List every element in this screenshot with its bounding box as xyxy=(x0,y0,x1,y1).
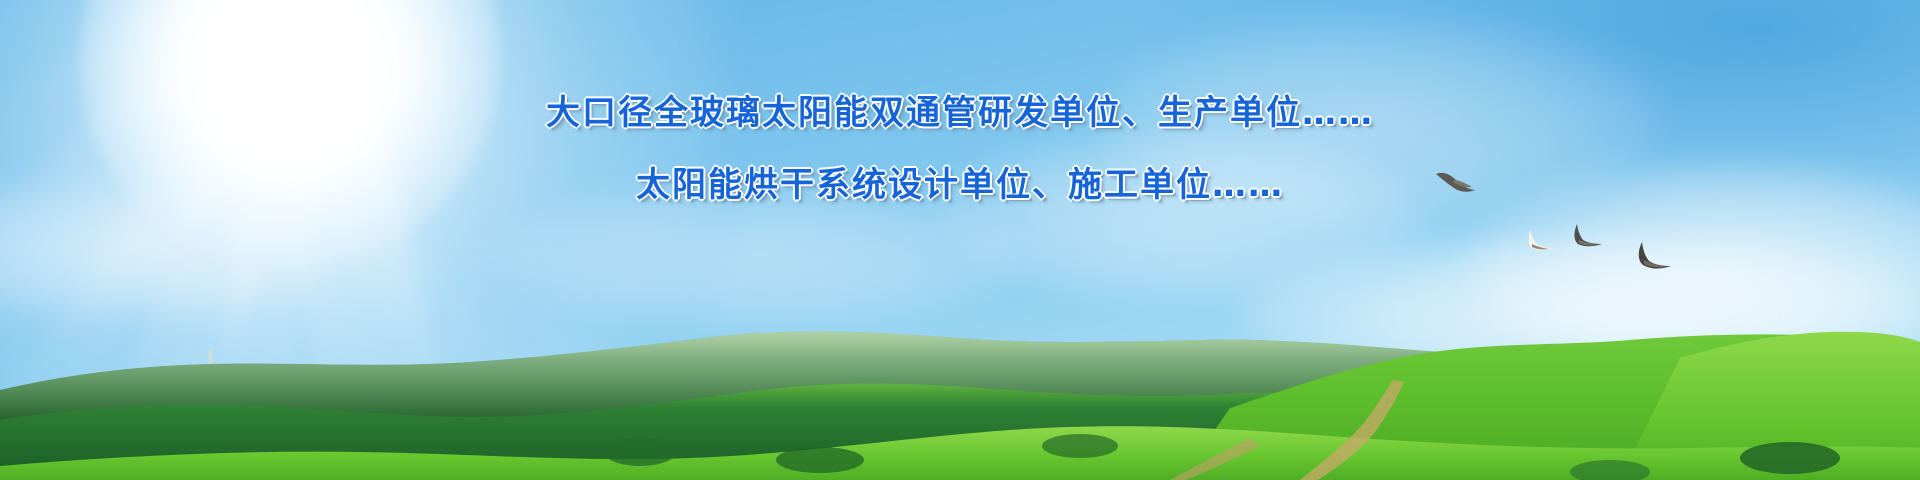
tree-cluster-3 xyxy=(1042,434,1118,458)
tree-cluster-1 xyxy=(604,438,676,466)
tree-cluster-2 xyxy=(776,447,864,473)
hero-banner: 大口径全玻璃太阳能双通管研发单位、生产单位…… 太阳能烘干系统设计单位、施工单位… xyxy=(0,0,1920,480)
tree-cluster-4 xyxy=(1740,442,1840,474)
landscape xyxy=(0,280,1920,480)
hills-svg xyxy=(0,280,1920,480)
sky-deep-blue-accent xyxy=(864,0,1920,298)
